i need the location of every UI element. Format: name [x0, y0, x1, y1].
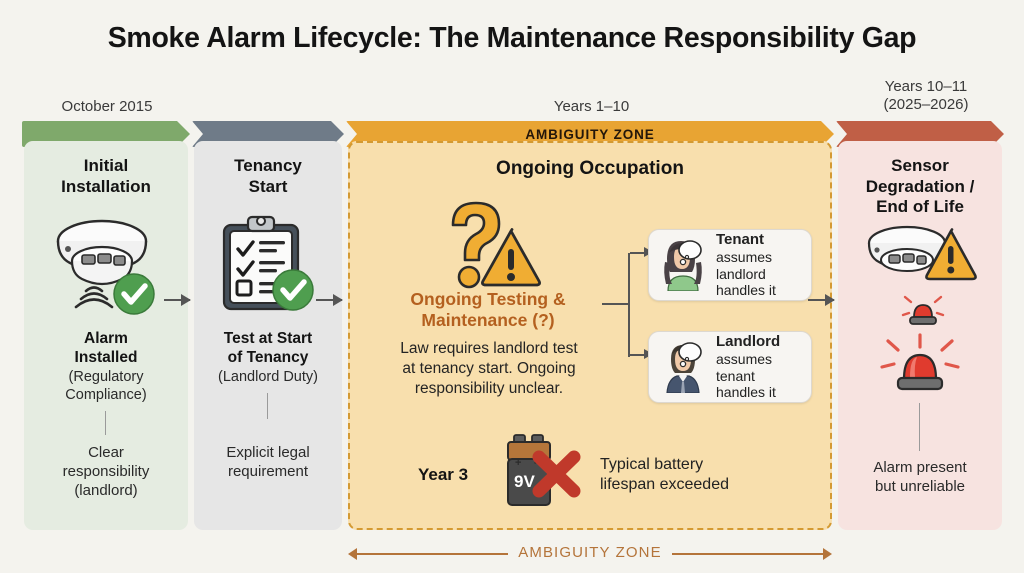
thought-card-tenant-text: Tenant assumeslandlordhandles it	[716, 231, 776, 299]
svg-text:9V: 9V	[514, 472, 535, 491]
stage-panel-sensor-degradation: SensorDegradation /End of Life	[838, 141, 1002, 530]
stage-head-tenancy-start: Test at Startof Tenancy	[194, 329, 342, 367]
stage-panel-initial-installation: InitialInstallation AlarmInstalled (Regu…	[24, 141, 188, 530]
clipboard-check-icon	[218, 211, 320, 320]
stage-panel-ongoing-occupation: Ongoing Occupation Ongoing Testing &Main…	[348, 141, 832, 530]
thought-card-landlord-actor: Landlord	[716, 333, 780, 351]
landlord-avatar-icon	[657, 337, 709, 398]
thought-card-tenant-actor: Tenant	[716, 231, 776, 249]
stage-sub-initial-installation: (RegulatoryCompliance)	[24, 369, 188, 405]
alarm-beacon-small-icon	[900, 293, 946, 332]
thought-card-landlord-text: Landlord assumestenanthandles it	[716, 333, 780, 401]
infographic-canvas: Smoke Alarm Lifecycle: The Maintenance R…	[0, 0, 1024, 573]
branch-connector	[602, 251, 654, 357]
divider-line	[267, 393, 268, 419]
flow-arrow-3	[808, 299, 834, 301]
stage-head-initial-installation: AlarmInstalled	[24, 329, 188, 367]
battery-lifespan-note: Typical batterylifespan exceeded	[600, 455, 800, 495]
divider-line	[919, 403, 920, 451]
stage-title-sensor-degradation: SensorDegradation /End of Life	[838, 156, 1002, 218]
stage-title-tenancy-start: TenancyStart	[194, 156, 342, 197]
flow-arrow-1	[164, 299, 190, 301]
stage-sub-tenancy-start: (Landlord Duty)	[194, 369, 342, 387]
flow-arrow-2	[316, 299, 342, 301]
ongoing-maintenance-body: Law requires landlord testat tenancy sta…	[360, 339, 618, 398]
period-label-endoflife: Years 10–11(2025–2026)	[837, 78, 1015, 115]
svg-text:+: +	[515, 457, 521, 469]
battery-year-label: Year 3	[418, 465, 468, 485]
stage-foot-sensor-degradation: Alarm presentbut unreliable	[838, 459, 1002, 497]
thought-card-landlord-body: assumestenanthandles it	[716, 351, 776, 401]
ambiguity-zone-bracket-label: AMBIGUITY ZONE	[348, 544, 832, 561]
thought-card-tenant: Tenant assumeslandlordhandles it	[648, 229, 812, 301]
battery-cross-icon: + – 9V	[498, 433, 588, 516]
stage-title-initial-installation: InitialInstallation	[24, 156, 188, 197]
thought-card-tenant-body: assumeslandlordhandles it	[716, 249, 776, 299]
stage-title-ongoing-occupation: Ongoing Occupation	[350, 157, 830, 180]
page-title: Smoke Alarm Lifecycle: The Maintenance R…	[0, 22, 1024, 55]
question-warning-icon	[435, 199, 555, 296]
period-label-initial: October 2015	[22, 98, 192, 116]
tenant-avatar-icon	[657, 235, 709, 296]
divider-line	[105, 411, 106, 435]
stage-foot-initial-installation: Clearresponsibility(landlord)	[24, 444, 188, 500]
ongoing-maintenance-emphasis: Ongoing Testing &Maintenance (?)	[368, 289, 608, 331]
alarm-beacon-large-icon	[880, 333, 960, 398]
smoke-alarm-check-icon	[52, 213, 160, 322]
ambiguity-zone-bracket: AMBIGUITY ZONE	[348, 544, 832, 564]
stage-panel-tenancy-start: TenancyStart Test at Startof Tenanc	[194, 141, 342, 530]
period-label-ongoing: Years 1–10	[349, 98, 834, 116]
stage-foot-tenancy-start: Explicit legalrequirement	[194, 444, 342, 482]
thought-card-landlord: Landlord assumestenanthandles it	[648, 331, 812, 403]
